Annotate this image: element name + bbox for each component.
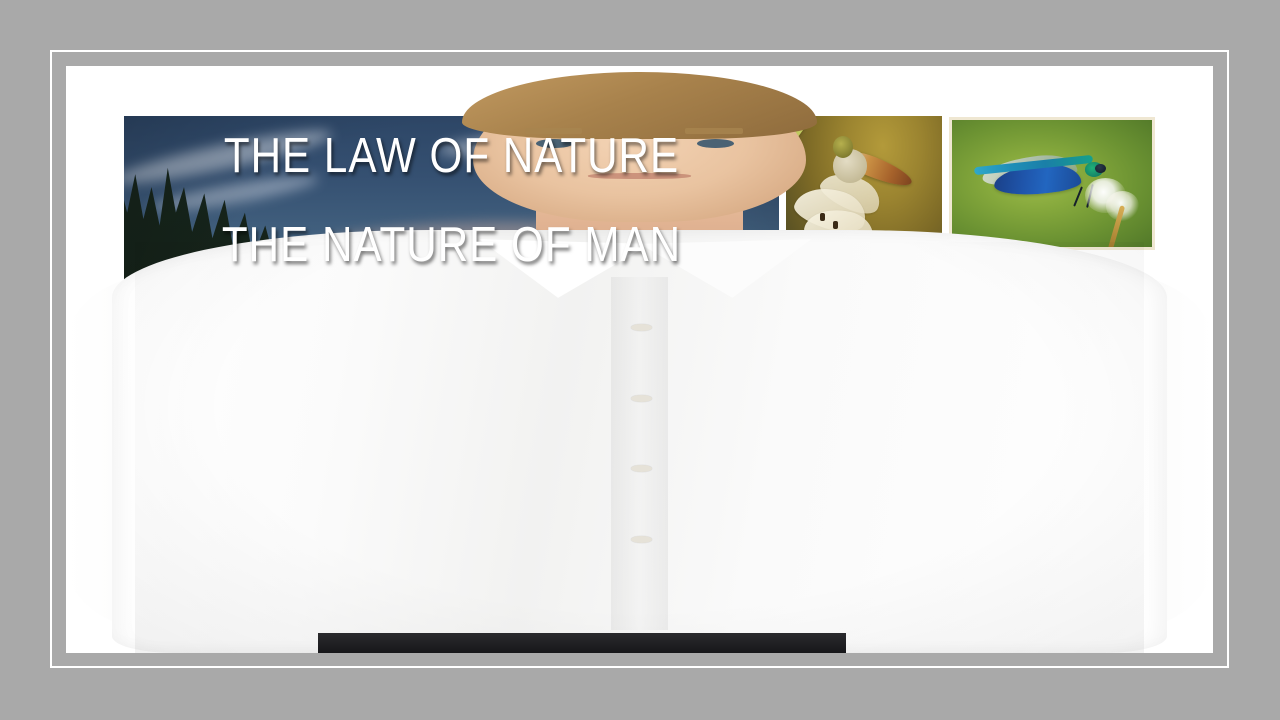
slide-title: THE LAW OF NATURE THE NATURE OF MAN bbox=[124, 132, 779, 270]
person-belt bbox=[318, 633, 846, 653]
thumbnail-blue-damselfly[interactable] bbox=[949, 117, 1155, 250]
slide-canvas: THE LAW OF NATURE THE NATURE OF MAN bbox=[66, 66, 1213, 653]
title-line-1: THE LAW OF NATURE bbox=[170, 132, 733, 181]
wing-spot bbox=[820, 213, 825, 221]
insect-head bbox=[833, 136, 853, 158]
photo-border bbox=[949, 117, 1155, 250]
wing-spot bbox=[833, 221, 838, 229]
title-line-2: THE NATURE OF MAN bbox=[170, 221, 733, 270]
person-soft-shadow bbox=[135, 242, 1144, 653]
